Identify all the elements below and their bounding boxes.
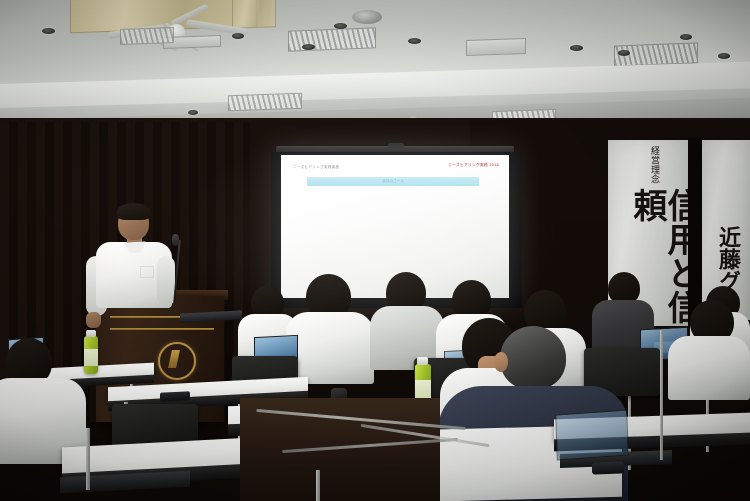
- downlight-4: [302, 44, 315, 50]
- ceiling-vent-2: [120, 27, 174, 45]
- slide-title-band-text: 本日のゴール: [307, 179, 479, 184]
- bulkhead-vent-1: [228, 93, 302, 112]
- floor: [240, 398, 440, 501]
- laptop-front-right-screen: [555, 410, 629, 461]
- downlight-6: [570, 45, 583, 51]
- tea-bottle-center-cap: [417, 357, 428, 365]
- downlight-2: [232, 33, 244, 39]
- stool-leg-1: [86, 428, 90, 490]
- ceiling-vent-4: [466, 38, 526, 56]
- attendee-front-navy-head: [500, 326, 566, 390]
- smartphone-front: [592, 461, 624, 474]
- attendee-2-torso: [286, 312, 374, 384]
- banner-company-main-text: 近藤グ: [716, 226, 738, 292]
- attendee-front-navy-ear: [494, 352, 508, 372]
- banner-divider: [688, 138, 702, 328]
- presenter-right-arm: [157, 256, 175, 306]
- tea-bottle-left-cap: [86, 330, 96, 337]
- ceiling-speaker: [352, 10, 382, 24]
- bulkhead-downlight-1: [188, 110, 198, 115]
- downlight-9: [718, 53, 730, 59]
- ceiling-vent-3: [288, 27, 376, 51]
- screen-roller-knob: [388, 143, 404, 149]
- downlight-7: [618, 50, 630, 56]
- presenter-hand: [86, 312, 101, 328]
- av-cart-pole: [660, 330, 663, 460]
- smartphone-on-table: [160, 391, 190, 402]
- stool-leg-2: [316, 470, 320, 501]
- banner-philosophy-small-text: 経営理念: [649, 146, 658, 184]
- podium-gold-stripe-2: [110, 328, 214, 330]
- attendee-far-right-torso: [668, 336, 750, 400]
- microphone-head: [172, 234, 179, 246]
- slide-header-left: ニーズヒアリング実践講座: [293, 164, 340, 169]
- downlight-3: [334, 23, 347, 29]
- downlight-5: [408, 38, 421, 44]
- slide-title-band: 本日のゴール: [307, 177, 479, 186]
- presenter-hair: [117, 203, 150, 220]
- tea-bottle-left: [84, 336, 98, 374]
- downlight-1: [42, 28, 55, 34]
- downlight-8: [680, 34, 692, 40]
- presenter-shirt-pocket: [140, 266, 154, 278]
- seminar-room-photo: 経営理念 信用と信頼 近藤グ ニーズヒアリング実践講座 ニーズヒアリング実践 2…: [0, 0, 750, 501]
- slide-header-right: ニーズヒアリング実践 2018: [448, 163, 499, 168]
